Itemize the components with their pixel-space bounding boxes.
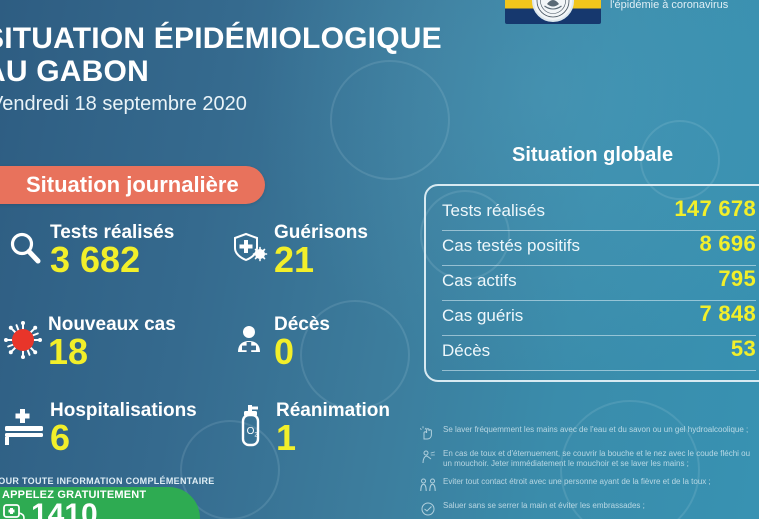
table-row: Cas actifs 795 [442,266,756,301]
page-title: SITUATION ÉPIDÉMIOLOGIQUE AU GABON [0,22,442,88]
global-row-label: Décès [442,341,490,361]
coronavirus-icon [0,314,46,366]
gabon-flag-icon [505,0,601,24]
stat-value: 6 [50,420,197,456]
stat-value: 18 [48,334,176,370]
report-date: Vendredi 18 septembre 2020 [0,93,247,116]
phone-number: 1410 [31,500,98,519]
global-row-value: 147 678 [674,196,756,222]
info-line: POUR TOUTE INFORMATION COMPLÉMENTAIRE [0,476,215,486]
tip-text: Saluer sans se serrer la main et éviter … [443,501,645,511]
global-row-value: 795 [718,266,756,292]
global-row-label: Tests réalisés [442,201,545,221]
stat-value: 21 [274,242,368,278]
page-title-line1: SITUATION ÉPIDÉMIOLOGIQUE [0,22,442,55]
stat-value: 3 682 [50,242,174,278]
no-handshake-icon [420,502,438,517]
organization-name-line2: l'épidémie à coronavirus [610,0,748,12]
distance-icon [420,478,438,493]
cough-elbow-icon [420,450,438,465]
tip-text: En cas de toux et d'éternuement, se couv… [443,449,759,469]
global-row-value: 53 [731,336,756,362]
stat-hospitalisations: Hospitalisations 6 [2,400,197,456]
global-row-label: Cas testés positifs [442,236,580,256]
oxygen-tank-icon: O 2 [230,400,274,452]
person-cross-icon [228,314,272,366]
organization-name: de veille et de riposte contre l'épidémi… [610,0,748,12]
stat-reanimation: O 2 Réanimation 1 [230,400,390,456]
stat-value: 1 [276,420,390,456]
list-item: Eviter tout contact étroit avec une pers… [420,477,759,493]
global-situation-panel: Tests réalisés 147 678 Cas testés positi… [424,184,759,382]
global-row-value: 7 848 [699,301,756,327]
table-row: Décès 53 [442,336,756,371]
table-row: Cas testés positifs 8 696 [442,231,756,266]
shield-cross-virus-icon [228,222,272,274]
magnifier-icon [2,222,48,274]
wash-hands-icon [420,426,438,441]
hospital-bed-icon [2,400,48,452]
tip-text: Eviter tout contact étroit avec une pers… [443,477,711,487]
table-row: Tests réalisés 147 678 [442,196,756,231]
gabon-coat-of-arms-icon [532,0,574,22]
list-item: En cas de toux et d'éternuement, se couv… [420,449,759,469]
list-item: Saluer sans se serrer la main et éviter … [420,501,759,517]
hygiene-tips-list: Se laver fréquemment les mains avec de l… [420,425,759,519]
stat-nouveaux-cas: Nouveaux cas 18 [0,314,176,370]
global-situation-title: Situation globale [512,144,673,167]
stat-guerisons: Guérisons 21 [228,222,368,278]
list-item: Se laver fréquemment les mains avec de l… [420,425,759,441]
table-row: Cas guéris 7 848 [442,301,756,336]
stat-value: 0 [274,334,330,370]
stat-label: Hospitalisations [50,400,197,422]
page-title-line2: AU GABON [0,55,442,88]
phone-medical-icon [2,501,28,519]
tip-text: Se laver fréquemment les mains avec de l… [443,425,748,435]
global-row-label: Cas actifs [442,271,517,291]
global-row-value: 8 696 [699,231,756,257]
call-gratuitement-box: APPELEZ GRATUITEMENT 1410 [0,487,200,519]
organization-logo: de veille et de riposte contre l'épidémi… [505,0,748,24]
stat-tests-realises: Tests réalisés 3 682 [2,222,174,278]
global-row-label: Cas guéris [442,306,523,326]
daily-situation-badge: Situation journalière [0,166,265,204]
stat-deces: Décès 0 [228,314,330,370]
